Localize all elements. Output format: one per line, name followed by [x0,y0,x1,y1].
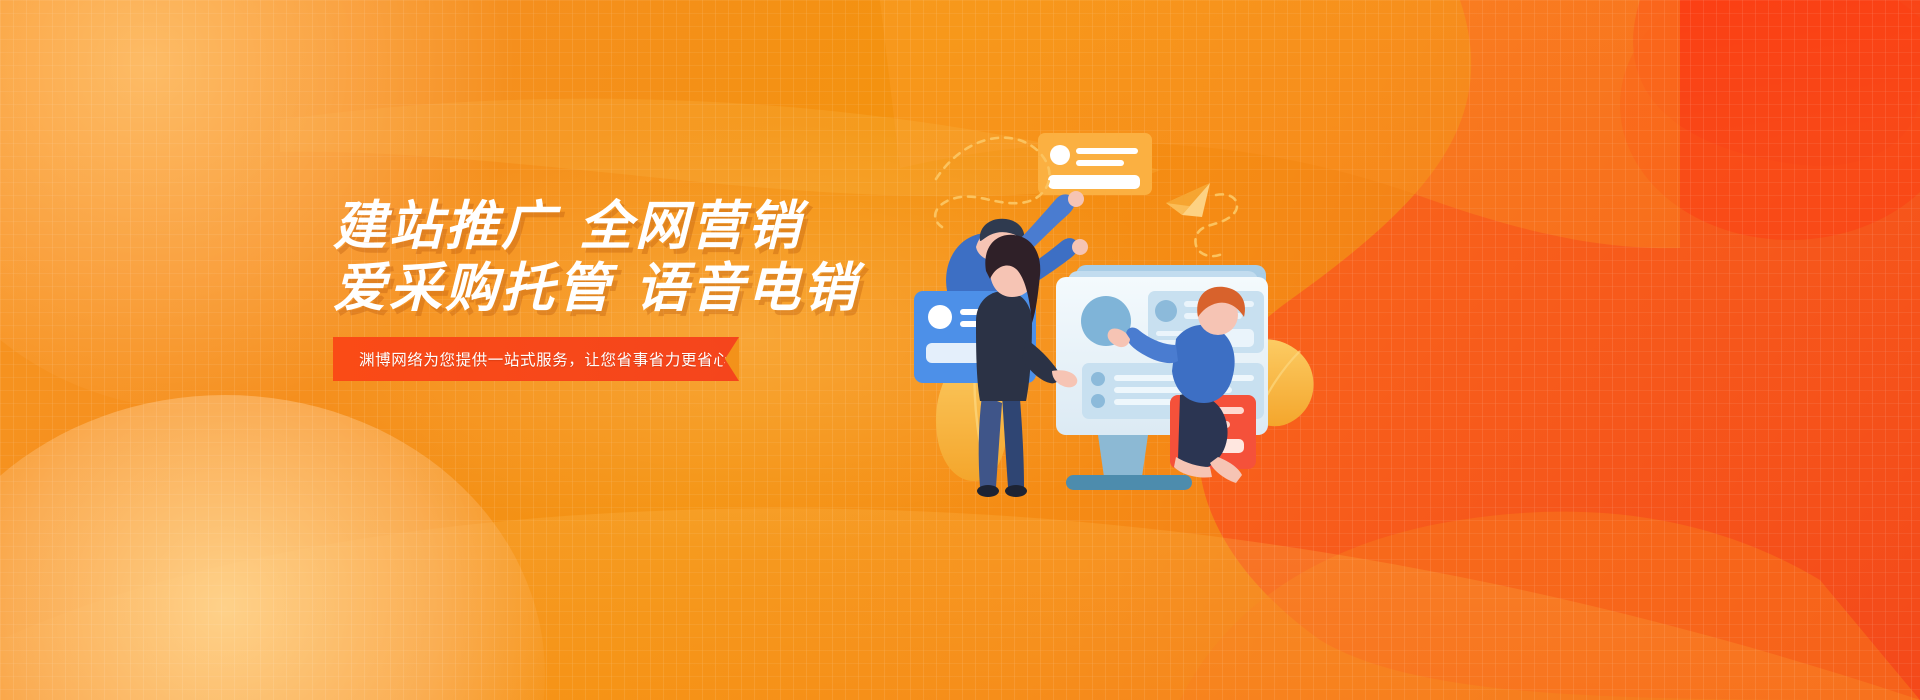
tagline-text: 渊博网络为您提供一站式服务，让您省事省力更省心 [333,348,729,370]
person-reaching-hand-lower [1072,239,1088,255]
headline-line2-part1: 爱采购托管 [333,259,613,318]
headline-line-1: 建站推广全网营销 [333,196,973,258]
headline-block: 建站推广全网营销 爱采购托管语音电销 [333,196,973,320]
yellow-contact-card [1038,133,1152,195]
woman-torso [976,291,1032,401]
man-torso [1172,325,1235,403]
monitor-neck [1098,435,1148,477]
woman-shoe-left [977,485,999,497]
woman-leg-left [979,395,1002,487]
promo-banner: 建站推广全网营销 爱采购托管语音电销 渊博网络为您提供一站式服务，让您省事省力更… [0,0,1920,700]
paper-plane-icon [1166,183,1210,217]
headline-line2-part2: 语音电销 [635,259,859,318]
tagline-ribbon: 渊博网络为您提供一站式服务，让您省事省力更省心 [333,337,739,381]
ribbon-notch-icon [713,337,739,381]
dashed-flight-path-left [935,138,1049,227]
woman-leg-right [1002,395,1024,487]
monitor-base [1066,475,1192,490]
woman-shoe-right [1005,485,1027,497]
headline-line-2: 爱采购托管语音电销 [333,258,973,320]
headline-line1-part2: 全网营销 [579,197,803,256]
person-reaching-hand-upper [1068,191,1084,207]
headline-line1-part1: 建站推广 [333,197,557,256]
illustration-svg [880,95,1340,515]
hero-illustration [880,95,1340,515]
